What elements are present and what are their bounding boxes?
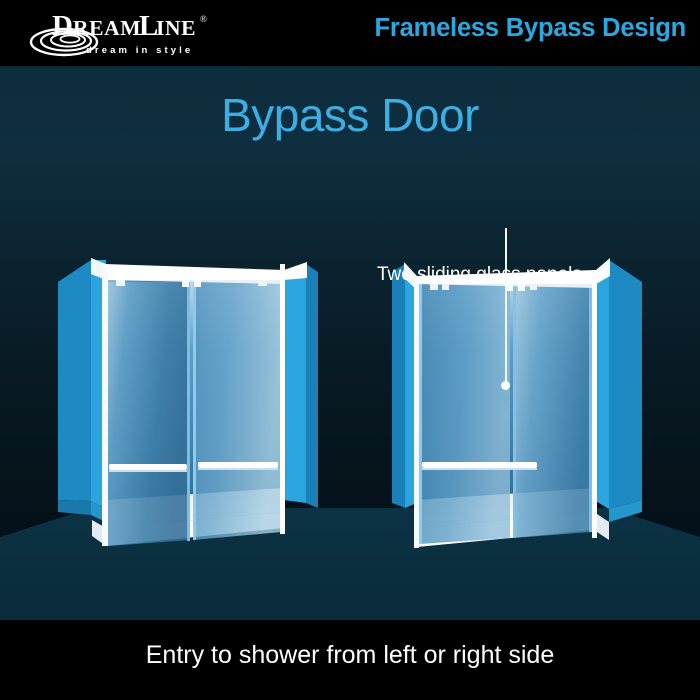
- sliding-glass-panel-2: [193, 278, 281, 540]
- frame-post-right: [280, 264, 285, 534]
- door-handle-bar-1: [422, 462, 537, 470]
- header-title: Frameless Bypass Design: [375, 14, 686, 43]
- bypass-enclosure-right-entry: [382, 250, 642, 580]
- callout-target-dot: [501, 381, 510, 390]
- caption-text: Entry to shower from left or right side: [0, 641, 700, 670]
- left-side-wall-panel: [58, 260, 106, 522]
- frame-post-left: [414, 276, 419, 548]
- header-bar: D REAM L INE ® dream in style Frameless …: [0, 0, 700, 66]
- door-handle-bar-2: [198, 462, 278, 470]
- door-handle-bar-1: [109, 464, 187, 472]
- right-side-wall-panel: [594, 260, 642, 522]
- caption-bar: Entry to shower from left or right side: [0, 620, 700, 700]
- top-rail-track: [91, 258, 307, 287]
- svg-text:®: ®: [200, 14, 207, 24]
- left-side-wall-panel: [392, 264, 417, 508]
- callout-label: Two sliding glass panels: [377, 264, 582, 286]
- frame-post-right: [592, 270, 597, 538]
- scene-background: Bypass Door: [0, 66, 700, 620]
- bypass-enclosure-left-entry: [58, 250, 318, 580]
- right-side-wall-panel: [283, 264, 318, 508]
- dreamline-logo[interactable]: D REAM L INE ® dream in style: [26, 9, 241, 59]
- callout-leader-line: [505, 228, 507, 386]
- svg-text:REAM: REAM: [73, 16, 141, 40]
- logo-wordmark: D REAM L INE ®: [52, 10, 207, 42]
- svg-text:INE: INE: [156, 16, 196, 40]
- frame-post-left: [102, 264, 108, 546]
- scene-title: Bypass Door: [0, 88, 700, 142]
- sliding-glass-panel-2: [513, 284, 592, 538]
- sliding-glass-panel-1: [419, 284, 510, 544]
- sliding-glass-panel-1: [108, 278, 190, 546]
- svg-text:D: D: [52, 10, 73, 42]
- bypass-door-product-graphic: Bypass Door: [0, 0, 700, 700]
- logo-tagline: dream in style: [86, 45, 193, 56]
